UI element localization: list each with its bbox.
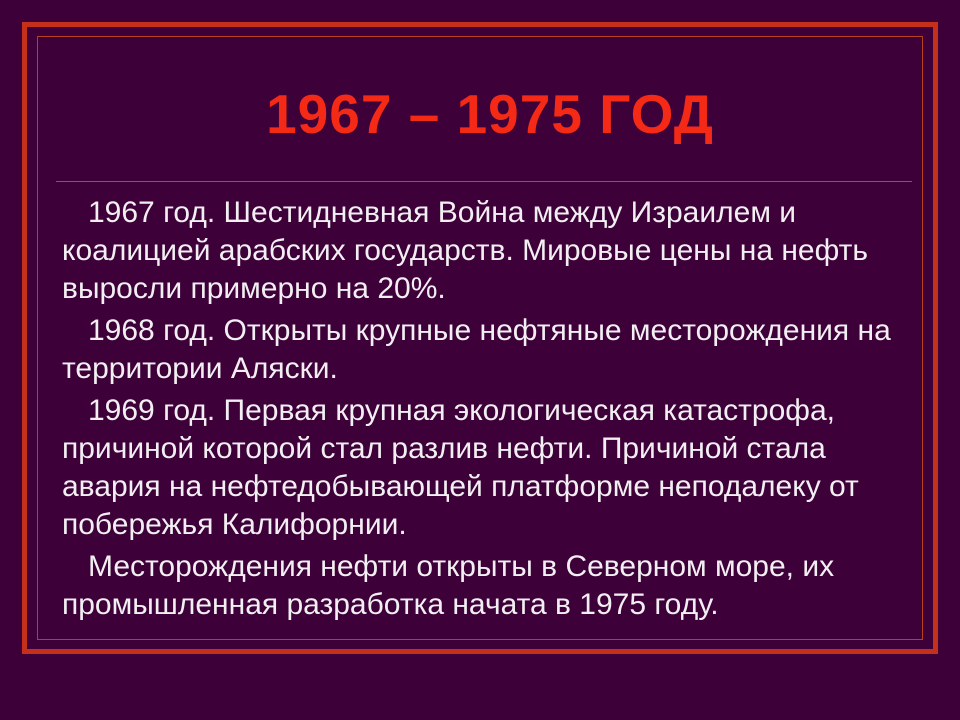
body-paragraph-3: 1969 год. Первая крупная экологическая к…: [62, 392, 898, 544]
body-paragraph-4: Месторождения нефти открыты в Северном м…: [62, 548, 898, 624]
slide-body: 1967 год. Шестидневная Война между Израи…: [62, 194, 898, 624]
page-title: 1967 – 1975 ГОД: [60, 86, 920, 144]
body-paragraph-1: 1967 год. Шестидневная Война между Израи…: [62, 194, 898, 308]
body-paragraph-2: 1968 год. Открыты крупные нефтяные место…: [62, 312, 898, 388]
slide-canvas: 1967 – 1975 ГОД 1967 год. Шестидневная В…: [0, 0, 960, 720]
slide-content: 1967 – 1975 ГОД 1967 год. Шестидневная В…: [0, 0, 960, 720]
title-divider: [56, 181, 912, 182]
